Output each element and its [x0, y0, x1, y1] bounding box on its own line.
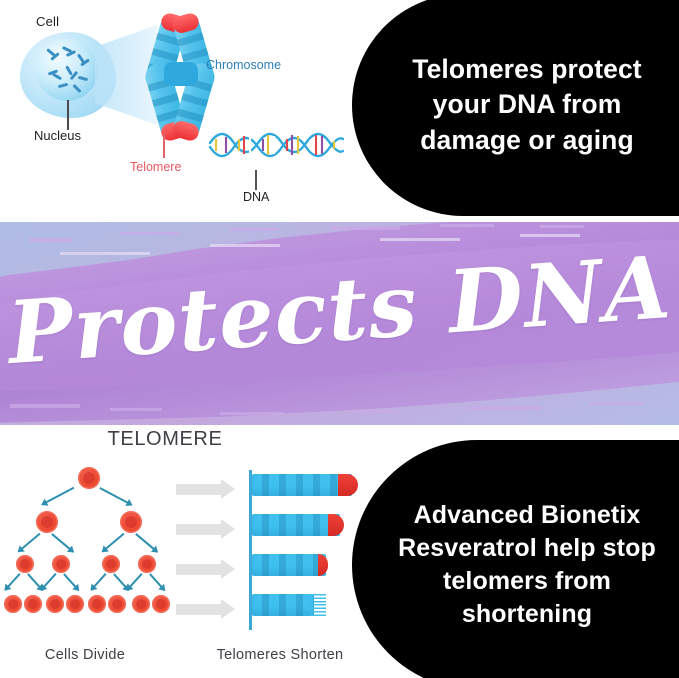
telomere-pointer-line [163, 133, 165, 158]
dna-pointer-line [255, 170, 257, 190]
telomere-frayed-end [310, 594, 326, 616]
tree-cell [88, 595, 106, 613]
nucleus-label: Nucleus [34, 128, 81, 143]
process-arrow [176, 564, 222, 575]
tree-cell [36, 511, 58, 533]
tree-cell [120, 511, 142, 533]
dna-helix-illustration [208, 113, 344, 183]
telomere-bar [252, 594, 314, 616]
tree-cell [4, 595, 22, 613]
purple-banner-section: Protects DNA [0, 222, 679, 425]
telomere-section-title: TELOMERE [0, 428, 330, 451]
telomere-label: Telomere [130, 160, 181, 174]
tree-cell [78, 467, 100, 489]
cell-division-tree [4, 467, 174, 617]
tree-cell [46, 595, 64, 613]
tree-cell [66, 595, 84, 613]
tree-cell [16, 555, 34, 573]
top-message-text: Telomeres protect your DNA from damage o… [355, 52, 679, 159]
tree-cell [102, 555, 120, 573]
centromere [164, 62, 198, 86]
telomere-bar [252, 554, 326, 576]
tree-cell [108, 595, 126, 613]
chromosome-label: Chromosome [206, 58, 281, 72]
telomere-bar [252, 474, 352, 496]
process-arrow [176, 484, 222, 495]
tree-cell [24, 595, 42, 613]
dna-label: DNA [243, 190, 269, 204]
process-arrow [176, 524, 222, 535]
telomeres-shorten-label: Telomeres Shorten [185, 647, 375, 663]
cells-divide-label: Cells Divide [0, 647, 170, 663]
top-message-panel: Telomeres protect your DNA from damage o… [352, 0, 679, 216]
nucleus-pointer-line [67, 100, 69, 130]
process-arrow [176, 604, 222, 615]
telomere-bar [252, 514, 340, 536]
tree-cell [138, 555, 156, 573]
telomere-cap [328, 514, 344, 536]
cell-label: Cell [36, 14, 59, 29]
bottom-message-panel: Advanced Bionetix Resveratrol help stop … [352, 440, 679, 678]
telomere-cap [338, 474, 358, 496]
tree-cell [152, 595, 170, 613]
bottom-message-text: Advanced Bionetix Resveratrol help stop … [355, 499, 679, 632]
tree-cell [132, 595, 150, 613]
nucleus-shape [36, 39, 98, 101]
tree-cell [52, 555, 70, 573]
telomere-cap [318, 554, 328, 576]
infographic-page: Cell Nucleus [0, 0, 679, 678]
